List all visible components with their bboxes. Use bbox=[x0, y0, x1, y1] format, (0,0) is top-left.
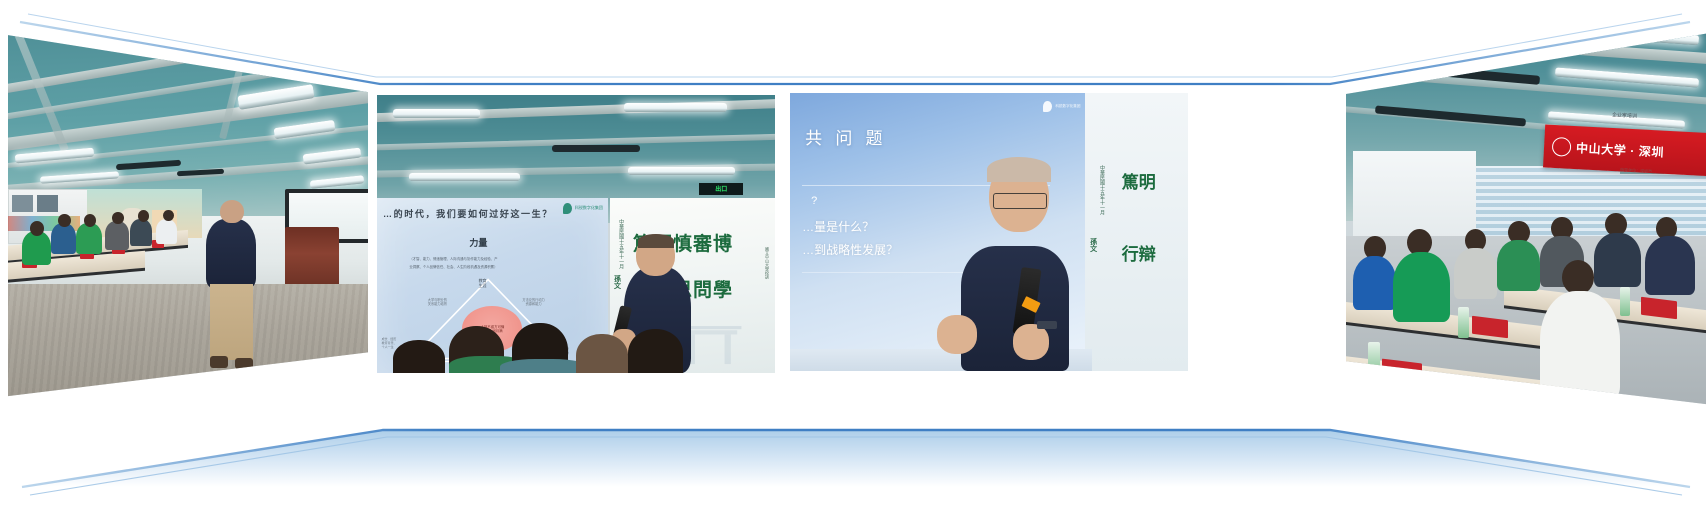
ceiling-light bbox=[624, 103, 727, 112]
attendee bbox=[51, 223, 76, 253]
stage-ceiling-outline-inner bbox=[28, 14, 1682, 77]
slide-line-2: …到战略性发展？ bbox=[802, 241, 898, 258]
calligraphy-wall: 篤明 行辯 中華民國十五年十一月 孫文 bbox=[1085, 93, 1188, 371]
exit-sign: 出口 bbox=[699, 183, 743, 196]
logo-mark bbox=[563, 203, 572, 214]
banner-title: 中山大学 · 深圳 bbox=[1576, 139, 1665, 161]
audience-head bbox=[576, 334, 628, 373]
scene-speaker-closeup: 科锐数字化集团 共 问 题 ? …量是什么？ …到战略性发展？ 篤明 行辯 中華… bbox=[790, 93, 1188, 371]
attendee bbox=[1393, 252, 1451, 322]
ceiling-light-dark bbox=[552, 145, 640, 152]
calligraphy-side-right: 中華民國十五年十一月 bbox=[618, 219, 625, 269]
logo-mark bbox=[1043, 101, 1052, 112]
attendee-front bbox=[1540, 291, 1619, 400]
slide-body-1: （才智、能力、情绪管理、人际沟通与协作能力及经验、产 bbox=[409, 256, 497, 261]
ceiling-light bbox=[1547, 24, 1699, 45]
attendee bbox=[130, 219, 152, 246]
ceiling-light bbox=[409, 173, 520, 181]
attendee bbox=[1454, 248, 1497, 299]
slide-line-1: …量是什么？ bbox=[802, 218, 874, 235]
slide-logo: 科锐数字化集团 bbox=[1043, 101, 1080, 112]
slide-heading: …的时代，我们要如何过好这一生？ bbox=[383, 207, 553, 220]
audience-head bbox=[628, 329, 684, 373]
scene-classroom-wide bbox=[8, 18, 368, 398]
slide-logo-label: 科锐数字化集团 bbox=[1055, 104, 1080, 108]
exit-sign-label: 出口 bbox=[715, 184, 727, 193]
presenter-shoe bbox=[235, 358, 253, 369]
speaker-hair bbox=[987, 157, 1051, 182]
attendee bbox=[1497, 240, 1540, 291]
presenter-torso bbox=[206, 219, 256, 287]
carousel-photo-center-right[interactable]: 科锐数字化集团 共 问 题 ? …量是什么？ …到战略性发展？ 篤明 行辯 中華… bbox=[790, 93, 1188, 371]
photo-carousel-stage: 出口 科锐数字化集团 …的时代，我们要如何过好这一生？ 力量 （才智、能力、情绪… bbox=[0, 0, 1708, 523]
speaker-glasses bbox=[993, 193, 1047, 209]
slide-node-left-note: 大学与职业的关系能力培育 bbox=[428, 299, 447, 307]
slide-node-right-note: 方法论的行动力资源和能力 bbox=[522, 299, 544, 307]
scene-lecture-slide: 出口 科锐数字化集团 …的时代，我们要如何过好这一生？ 力量 （才智、能力、情绪… bbox=[377, 95, 775, 373]
speaker-hand-left bbox=[937, 315, 977, 354]
slide-subheading: 力量 bbox=[469, 236, 487, 249]
poster bbox=[12, 195, 34, 212]
carousel-photo-right[interactable]: 中山大学 · 深圳 企业家培训 指导单位：深圳市… bbox=[1346, 18, 1706, 408]
calligraphy-line-2: 行辯 bbox=[1122, 240, 1156, 265]
stage-floor bbox=[22, 430, 1690, 487]
slide-bullet-mark: ? bbox=[811, 195, 817, 207]
ceiling-light-dark bbox=[1403, 20, 1547, 43]
water-bottle bbox=[1368, 342, 1381, 377]
calligraphy-side-left: 孫文 bbox=[611, 275, 621, 289]
carousel-photo-center-left[interactable]: 出口 科锐数字化集团 …的时代，我们要如何过好这一生？ 力量 （才智、能力、情绪… bbox=[377, 95, 775, 373]
attendee-head bbox=[163, 210, 174, 221]
water-bottle bbox=[1620, 287, 1631, 316]
name-card bbox=[1382, 359, 1422, 383]
calligraphy-seal: 國立中山大學校訓 bbox=[764, 247, 770, 279]
attendee-head bbox=[84, 214, 97, 227]
calligraphy-side-right: 中華民國十五年十一月 bbox=[1099, 165, 1106, 215]
water-bottle bbox=[1458, 307, 1470, 338]
attendee-head-front bbox=[1562, 260, 1594, 295]
poster bbox=[37, 195, 59, 212]
banner-top-note: 企业家培训 bbox=[1612, 111, 1637, 119]
university-seal-icon bbox=[1552, 137, 1572, 157]
attendee bbox=[1645, 236, 1695, 295]
slide-heading: 共 问 题 bbox=[805, 124, 887, 149]
slide-node-top: 教育生涯 bbox=[479, 278, 487, 288]
lecturer-hair bbox=[638, 234, 674, 248]
attendee bbox=[105, 221, 128, 250]
slide-body-2: 业洞察、个人品牌信任、社会、人生阶段机遇及资源积累） bbox=[409, 264, 497, 269]
slide-logo: 科锐数字化集团 bbox=[563, 203, 603, 214]
calligraphy-line-1: 篤明 bbox=[1122, 168, 1156, 193]
attendee bbox=[1594, 233, 1641, 288]
presenter-shoe bbox=[210, 356, 228, 367]
audience-shoulder bbox=[500, 359, 588, 373]
slide-logo-label: 科锐数字化集团 bbox=[575, 206, 603, 211]
floor bbox=[8, 284, 368, 398]
audience-head bbox=[393, 340, 445, 373]
ceiling-light bbox=[393, 109, 481, 118]
scene-audience: 中山大学 · 深圳 企业家培训 指导单位：深圳市… bbox=[1346, 18, 1706, 408]
calligraphy-side-left: 孫文 bbox=[1088, 238, 1098, 252]
attendee-head bbox=[138, 210, 149, 222]
attendee bbox=[1353, 256, 1396, 311]
stage-floor-outline bbox=[22, 430, 1690, 487]
attendee bbox=[76, 223, 101, 253]
presenter-legs bbox=[210, 284, 253, 360]
slide-footnote-left: 成长 · 经历教育背景、个人一生 bbox=[382, 338, 397, 350]
speaker-hand-right bbox=[1013, 324, 1049, 360]
speaker-watch bbox=[1037, 321, 1057, 329]
carousel-photo-left[interactable] bbox=[8, 18, 368, 398]
stage-ceiling-outline bbox=[20, 22, 1690, 84]
attendee bbox=[156, 219, 178, 244]
stage-floor-outline-inner bbox=[30, 437, 1682, 495]
ceiling-light bbox=[628, 167, 735, 175]
presenter-head bbox=[220, 200, 243, 223]
